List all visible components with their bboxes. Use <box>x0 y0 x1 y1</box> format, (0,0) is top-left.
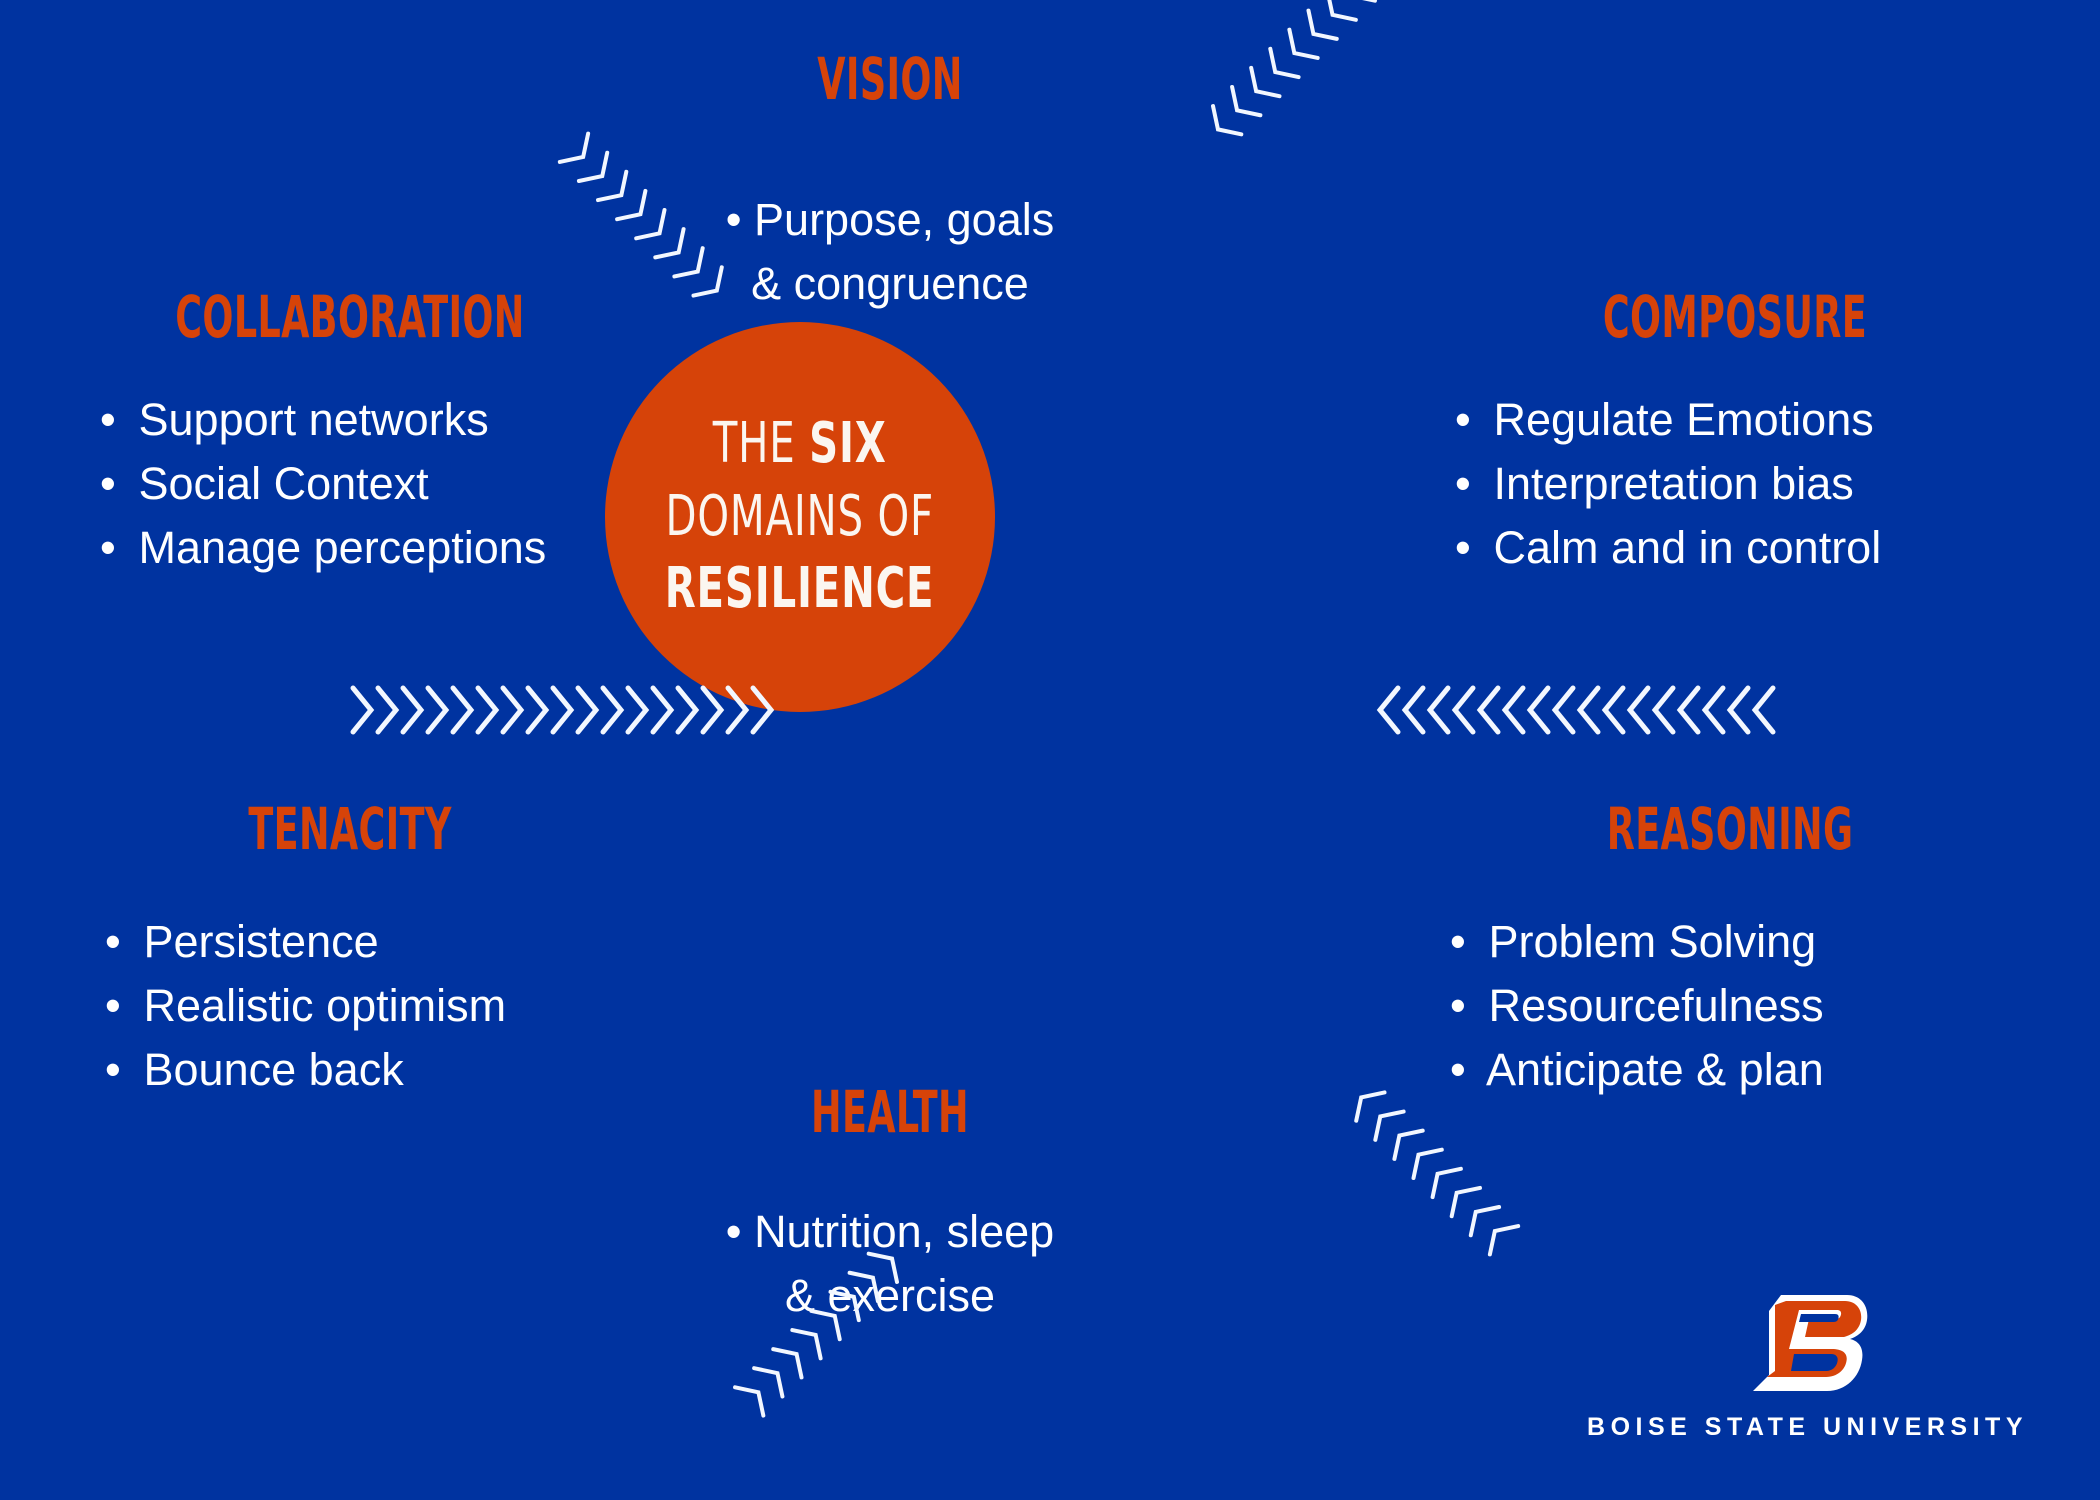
bullet-glyph: • <box>1455 452 1481 516</box>
list-item: • Support networks <box>100 388 546 452</box>
list-item-label: Manage perceptions <box>139 522 547 573</box>
list-item: • Regulate Emotions <box>1455 388 1881 452</box>
bullet-glyph: • <box>105 974 131 1038</box>
domain-title-vision: VISION <box>771 50 1009 108</box>
bullet-glyph: • <box>1455 388 1481 452</box>
center-circle: THE SIX DOMAINS OF RESILIENCE <box>605 322 995 712</box>
university-logo: BOISE STATE UNIVERSITY <box>1587 1289 2028 1442</box>
domain-title-collaboration: COLLABORATION <box>126 288 574 346</box>
list-item-label: Persistence <box>144 916 379 967</box>
domain-title-composure: COMPOSURE <box>1511 288 1959 346</box>
list-item-label: Interpretation bias <box>1494 458 1854 509</box>
bullet-glyph: • <box>100 452 126 516</box>
bullet-glyph: • <box>100 516 126 580</box>
chevron-trail-upper-right <box>1188 0 1378 160</box>
bullet-glyph: • <box>105 910 131 974</box>
center-line-1-prefix: THE <box>713 411 809 476</box>
bullet-glyph: • <box>100 388 126 452</box>
b-upper-counter <box>1799 1314 1839 1322</box>
list-item-label: Calm and in control <box>1494 522 1882 573</box>
bullet-glyph: • <box>726 194 742 245</box>
bullet-glyph: • <box>1450 1038 1476 1102</box>
list-item: • Manage perceptions <box>100 516 546 580</box>
domain-bullets-composure: • Regulate Emotions • Interpretation bia… <box>1455 388 1881 580</box>
b-lower-counter <box>1791 1354 1838 1371</box>
list-item: • Interpretation bias <box>1455 452 1881 516</box>
list-item-label: Anticipate & plan <box>1486 1044 1824 1095</box>
bullet-glyph: • <box>726 1206 742 1257</box>
list-item-label: Bounce back <box>144 1044 404 1095</box>
domain-bullets-collaboration: • Support networks • Social Context • Ma… <box>100 388 546 580</box>
list-item: • Realistic optimism <box>105 974 506 1038</box>
center-line-1: THE SIX <box>713 408 887 481</box>
list-item: • Persistence <box>105 910 506 974</box>
list-item-label: Purpose, goals <box>754 194 1054 245</box>
domain-bullets-tenacity: • Persistence • Realistic optimism • Bou… <box>105 910 506 1102</box>
domain-title-health: HEALTH <box>771 1083 1009 1141</box>
list-item: • Anticipate & plan <box>1450 1038 1824 1102</box>
center-line-2: DOMAINS OF <box>666 481 934 554</box>
domain-title-tenacity: TENACITY <box>126 800 574 858</box>
chevron-icon <box>1746 682 1780 738</box>
chevron-trail-middle-left <box>355 682 780 738</box>
poster-canvas: VISION • Purpose, goals & congruence COL… <box>0 0 2100 1500</box>
list-item-label: Problem Solving <box>1489 916 1817 967</box>
wordmark-text: BOISE STATE UNIVERSITY <box>1587 1413 2028 1442</box>
list-item: • Bounce back <box>105 1038 506 1102</box>
list-item: • Problem Solving <box>1450 910 1824 974</box>
chevron-trail-middle-right <box>1380 682 1780 738</box>
chevron-icon <box>746 682 780 738</box>
center-line-3: RESILIENCE <box>665 553 935 626</box>
list-item-label: Resourcefulness <box>1489 980 1824 1031</box>
domain-title-reasoning: REASONING <box>1506 800 1954 858</box>
boise-state-b-icon <box>1743 1289 1873 1397</box>
list-item-label: & congruence <box>751 258 1029 309</box>
center-line-1-emphasis: SIX <box>809 411 887 476</box>
center-line-3-text: RESILIENCE <box>665 556 935 621</box>
list-item-label: Support networks <box>139 394 489 445</box>
bullet-glyph: • <box>1450 910 1476 974</box>
bullet-glyph: • <box>1450 974 1476 1038</box>
bullet-glyph: • <box>1455 516 1481 580</box>
list-item-label: Social Context <box>139 458 429 509</box>
list-item-label: Realistic optimism <box>144 980 507 1031</box>
list-item: • Social Context <box>100 452 546 516</box>
list-item: • Resourcefulness <box>1450 974 1824 1038</box>
list-item: • Calm and in control <box>1455 516 1881 580</box>
bullet-glyph: • <box>105 1038 131 1102</box>
domain-bullets-reasoning: • Problem Solving • Resourcefulness • An… <box>1450 910 1824 1102</box>
list-item-label: Regulate Emotions <box>1494 394 1874 445</box>
